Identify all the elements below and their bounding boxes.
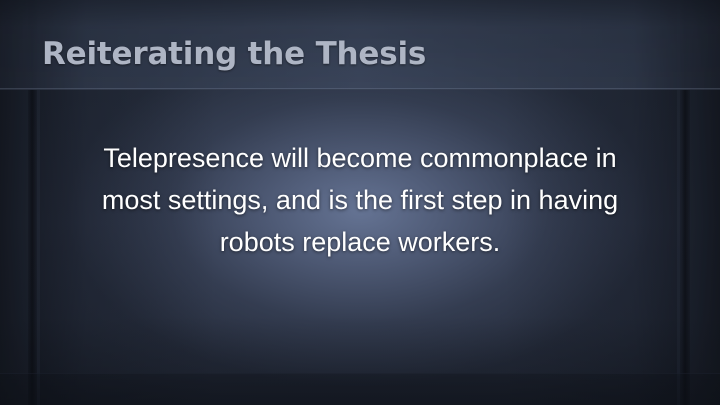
body-line-2: most settings, and is the first step in … — [60, 179, 660, 221]
slide-body-text: Telepresence will become commonplace in … — [60, 137, 660, 263]
body-line-3: robots replace workers. — [60, 221, 660, 263]
slide-title: Reiterating the Thesis — [42, 36, 426, 72]
slide-footer-band — [0, 373, 720, 405]
body-line-1: Telepresence will become commonplace in — [60, 137, 660, 179]
presentation-slide: Reiterating the Thesis Telepresence will… — [0, 0, 720, 405]
header-divider-line — [0, 88, 720, 89]
